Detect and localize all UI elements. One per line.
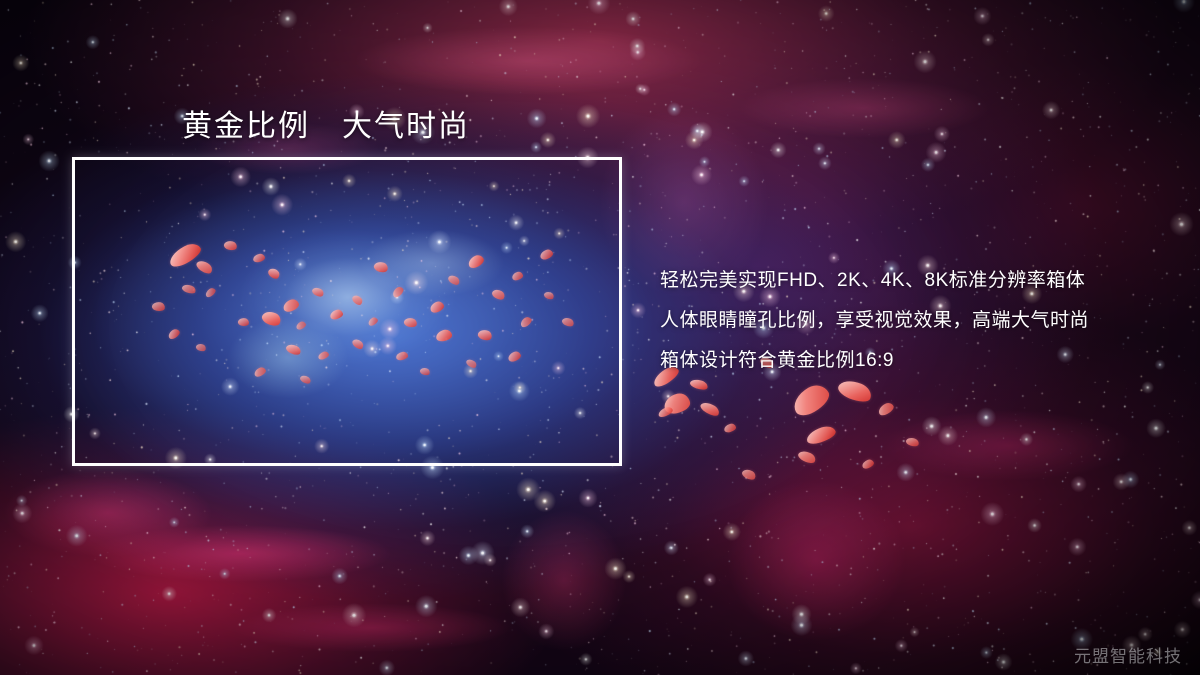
rose-petal [861,458,875,470]
rose-petal [741,467,758,482]
rose-petal [723,423,737,434]
feature-line-1: 轻松完美实现FHD、2K、4K、8K标准分辨率箱体 [660,261,1180,301]
rose-petal [662,392,691,416]
rose-petal [805,424,838,447]
rose-petal [905,436,920,448]
feature-description: 轻松完美实现FHD、2K、4K、8K标准分辨率箱体 人体眼睛瞳孔比例，享受视觉效… [660,261,1180,381]
feature-line-3: 箱体设计符合黄金比例16:9 [660,341,1180,381]
page-title: 黄金比例 大气时尚 [182,101,470,145]
rose-petal [789,380,834,420]
feature-line-2: 人体眼睛瞳孔比例，享受视觉效果，高端大气时尚 [660,301,1180,341]
rose-petal [877,401,896,417]
rose-petal [699,400,721,419]
rose-petal [797,449,818,466]
brand-watermark: 元盟智能科技 [1074,642,1182,667]
display-preview-frame[interactable] [72,157,622,466]
slide-canvas: 黄金比例 大气时尚 轻松完美实现FHD、2K、4K、8K标准分辨率箱体 人体眼睛… [0,0,1200,675]
rose-petal [657,405,674,418]
